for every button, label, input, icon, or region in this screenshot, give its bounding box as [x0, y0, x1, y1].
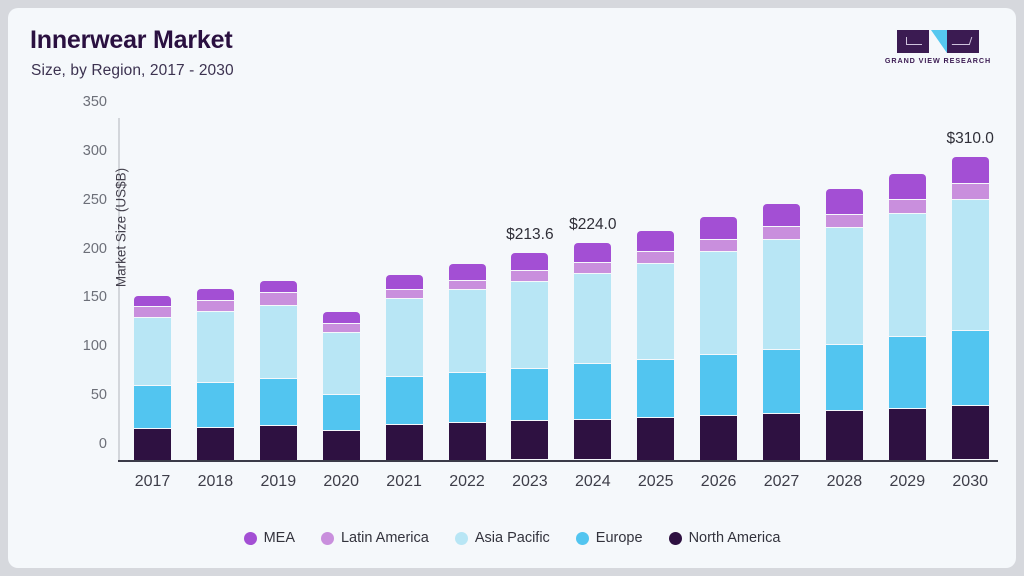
bar-segment[interactable] — [134, 318, 171, 385]
legend-item[interactable]: Europe — [576, 530, 643, 546]
bar-group[interactable]: 2029 — [889, 174, 926, 460]
bar-segment[interactable] — [826, 411, 863, 460]
y-axis-tick-label: 250 — [83, 192, 107, 208]
bar-group[interactable]: 2017 — [134, 296, 171, 460]
bar-segment[interactable] — [323, 333, 360, 395]
legend-swatch-icon — [321, 532, 334, 545]
chart-card: Innerwear Market Size, by Region, 2017 -… — [8, 8, 1016, 568]
bar-segment[interactable] — [386, 377, 423, 425]
y-axis-tick-label: 0 — [99, 436, 107, 452]
bar-segment[interactable] — [260, 293, 297, 305]
bar-segment[interactable] — [826, 345, 863, 411]
bar-group[interactable]: $224.02024 — [574, 243, 611, 460]
logo-notch-right-icon — [952, 37, 973, 45]
bar-segment[interactable] — [889, 337, 926, 408]
bar-segment[interactable] — [197, 383, 234, 428]
bar-segment[interactable] — [952, 157, 989, 184]
bar-segment[interactable] — [323, 395, 360, 432]
legend-item[interactable]: North America — [669, 530, 781, 546]
bar-segment[interactable] — [700, 416, 737, 460]
legend-item-label: Latin America — [341, 530, 429, 546]
x-axis-tick-label: 2026 — [701, 473, 737, 491]
legend-item[interactable]: Asia Pacific — [455, 530, 550, 546]
chart-plot-area: Market Size (US$B) 050100150200250300350… — [118, 118, 998, 460]
bar-segment[interactable] — [700, 240, 737, 252]
bar-segment[interactable] — [386, 290, 423, 299]
bar-segment[interactable] — [134, 429, 171, 460]
bar-segment[interactable] — [511, 369, 548, 421]
legend-swatch-icon — [576, 532, 589, 545]
x-axis-tick-label: 2022 — [449, 473, 485, 491]
bar-segment[interactable] — [260, 379, 297, 426]
x-axis-line — [118, 460, 998, 462]
x-axis-tick-label: 2030 — [952, 473, 988, 491]
bar-segment[interactable] — [449, 423, 486, 460]
bar-segment[interactable] — [260, 306, 297, 380]
bar-stack[interactable]: $310.0 — [952, 157, 989, 460]
bar-segment[interactable] — [449, 281, 486, 291]
bar-value-label: $213.6 — [506, 226, 553, 244]
x-axis-tick-label: 2021 — [386, 473, 422, 491]
bar-stack[interactable] — [386, 275, 423, 460]
bar-segment[interactable] — [323, 431, 360, 460]
y-axis-tick-label: 350 — [83, 94, 107, 110]
bar-segment[interactable] — [134, 386, 171, 429]
y-axis-tick-label: 150 — [83, 289, 107, 305]
bar-segment[interactable] — [574, 243, 611, 264]
x-axis-tick-label: 2018 — [198, 473, 234, 491]
bar-group[interactable]: 2020 — [323, 312, 360, 460]
bar-segment[interactable] — [323, 324, 360, 333]
bar-stack[interactable] — [260, 281, 297, 460]
bar-segment[interactable] — [889, 214, 926, 337]
bar-segment[interactable] — [889, 174, 926, 200]
bar-group[interactable]: $213.62023 — [511, 253, 548, 460]
bar-segment[interactable] — [889, 409, 926, 460]
x-axis-tick-label: 2019 — [261, 473, 297, 491]
bar-stack[interactable] — [700, 217, 737, 460]
x-axis-tick-label: 2027 — [764, 473, 800, 491]
x-axis-tick-label: 2023 — [512, 473, 548, 491]
logo-square-left-icon — [897, 30, 929, 53]
bar-segment[interactable] — [511, 421, 548, 460]
bar-segment[interactable] — [952, 406, 989, 460]
y-axis-tick-label: 100 — [83, 338, 107, 354]
bar-segment[interactable] — [637, 252, 674, 264]
bar-segment[interactable] — [952, 200, 989, 331]
bar-group[interactable]: 2026 — [700, 217, 737, 460]
bar-value-label: $224.0 — [569, 216, 616, 234]
logo-notch-left-icon — [906, 37, 922, 45]
bar-segment[interactable] — [449, 290, 486, 373]
bar-segment[interactable] — [763, 414, 800, 460]
bar-segment[interactable] — [197, 289, 234, 301]
bar-segment[interactable] — [826, 228, 863, 345]
bar-segment[interactable] — [511, 282, 548, 369]
bar-stack[interactable] — [134, 296, 171, 460]
bar-stack[interactable] — [197, 289, 234, 460]
bar-group[interactable]: 2019 — [260, 281, 297, 460]
bar-segment[interactable] — [386, 425, 423, 460]
bar-segment[interactable] — [763, 240, 800, 350]
bar-segment[interactable] — [763, 350, 800, 414]
y-axis-title: Market Size (US$B) — [114, 143, 129, 313]
bar-segment[interactable] — [386, 275, 423, 290]
bar-segment[interactable] — [637, 418, 674, 460]
x-axis-tick-label: 2025 — [638, 473, 674, 491]
bar-segment[interactable] — [952, 184, 989, 199]
bar-value-label: $310.0 — [946, 130, 993, 148]
bar-segment[interactable] — [826, 189, 863, 214]
bar-segment[interactable] — [763, 204, 800, 228]
bar-group[interactable]: 2022 — [449, 264, 486, 460]
bar-segment[interactable] — [700, 355, 737, 416]
bar-group[interactable]: 2021 — [386, 275, 423, 460]
bar-segment[interactable] — [197, 428, 234, 460]
bar-segment[interactable] — [449, 373, 486, 423]
bar-segment[interactable] — [637, 231, 674, 252]
legend-item-label: MEA — [264, 530, 295, 546]
chart-legend: MEALatin AmericaAsia PacificEuropeNorth … — [8, 530, 1016, 546]
bar-group[interactable]: $310.02030 — [952, 157, 989, 460]
bar-stack[interactable] — [637, 231, 674, 460]
bar-segment[interactable] — [637, 360, 674, 418]
bar-segment[interactable] — [637, 264, 674, 361]
page-title: Innerwear Market — [30, 26, 232, 55]
bar-segment[interactable] — [323, 312, 360, 324]
bar-segment[interactable] — [700, 217, 737, 239]
logo-square-right-icon — [947, 30, 979, 53]
grand-view-research-logo: GRAND VIEW RESEARCH — [884, 30, 992, 66]
x-axis-tick-label: 2024 — [575, 473, 611, 491]
bar-segment[interactable] — [952, 331, 989, 407]
bar-stack[interactable]: $213.6 — [511, 253, 548, 460]
bar-segment[interactable] — [197, 312, 234, 382]
legend-item-label: Europe — [596, 530, 643, 546]
bar-segment[interactable] — [574, 364, 611, 420]
bar-stack[interactable] — [449, 264, 486, 460]
legend-item-label: North America — [689, 530, 781, 546]
logo-wordmark: GRAND VIEW RESEARCH — [884, 56, 992, 65]
x-axis-tick-label: 2017 — [135, 473, 171, 491]
bar-segment[interactable] — [260, 426, 297, 460]
bar-group[interactable]: 2027 — [763, 204, 800, 461]
bar-stack[interactable]: $224.0 — [574, 243, 611, 460]
bar-segment[interactable] — [574, 263, 611, 274]
bar-segment[interactable] — [260, 281, 297, 294]
bar-segment[interactable] — [763, 227, 800, 240]
y-axis-tick-label: 300 — [83, 143, 107, 159]
bar-group[interactable]: 2028 — [826, 189, 863, 460]
bar-segment[interactable] — [700, 252, 737, 356]
chart-header: Innerwear Market Size, by Region, 2017 -… — [8, 8, 1016, 100]
y-axis-tick-label: 50 — [91, 387, 107, 403]
bar-group[interactable]: 2025 — [637, 231, 674, 460]
legend-swatch-icon — [669, 532, 682, 545]
bar-segment[interactable] — [826, 215, 863, 228]
y-axis-tick-label: 200 — [83, 241, 107, 257]
bar-segment[interactable] — [134, 307, 171, 318]
bar-segment[interactable] — [134, 296, 171, 307]
bar-segment[interactable] — [449, 264, 486, 281]
chart-subtitle: Size, by Region, 2017 - 2030 — [31, 62, 234, 80]
bar-stack[interactable] — [763, 204, 800, 461]
bar-segment[interactable] — [511, 271, 548, 282]
bar-stack[interactable] — [323, 312, 360, 460]
bar-segment[interactable] — [889, 200, 926, 214]
legend-swatch-icon — [244, 532, 257, 545]
bar-stack[interactable] — [889, 174, 926, 460]
x-axis-tick-label: 2020 — [323, 473, 359, 491]
bar-stack[interactable] — [826, 189, 863, 460]
logo-mark-icon — [884, 30, 992, 53]
legend-item[interactable]: Latin America — [321, 530, 429, 546]
x-axis-tick-label: 2028 — [827, 473, 863, 491]
bar-segment[interactable] — [511, 253, 548, 272]
legend-swatch-icon — [455, 532, 468, 545]
bar-segment[interactable] — [574, 274, 611, 364]
legend-item-label: Asia Pacific — [475, 530, 550, 546]
x-axis-tick-label: 2029 — [890, 473, 926, 491]
bar-segment[interactable] — [386, 299, 423, 377]
bar-segment[interactable] — [574, 420, 611, 460]
bar-segment[interactable] — [197, 301, 234, 313]
legend-item[interactable]: MEA — [244, 530, 295, 546]
bar-group[interactable]: 2018 — [197, 289, 234, 460]
